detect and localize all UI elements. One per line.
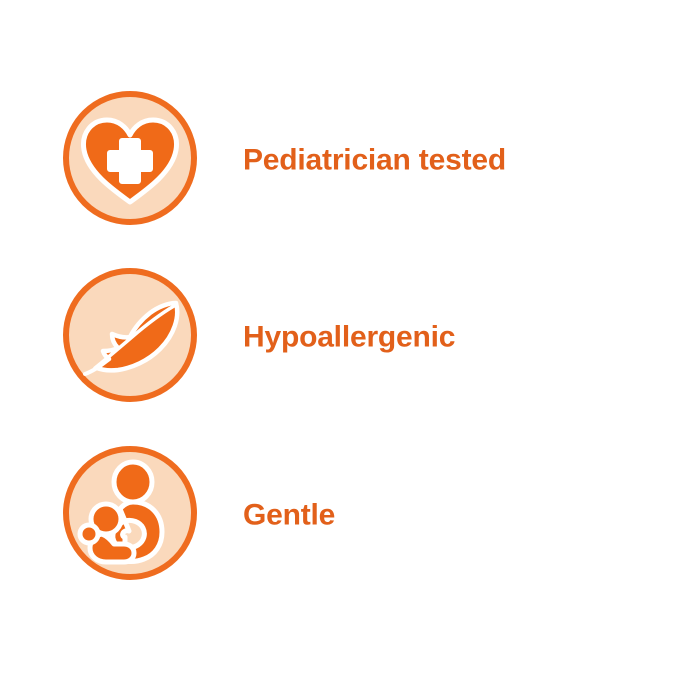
feature-row-pediatrician-tested: Pediatrician tested [0,90,679,230]
feature-label-pediatrician-tested: Pediatrician tested [243,144,506,177]
feature-row-hypoallergenic: Hypoallergenic [0,267,679,407]
feature-badges-panel: Pediatrician tested Hypoallergenic [0,0,679,679]
feature-label-hypoallergenic: Hypoallergenic [243,321,455,354]
mother-holding-baby-icon [62,445,198,581]
feature-label-gentle: Gentle [243,499,335,532]
feather-icon [62,267,198,403]
heart-with-medical-cross-icon [62,90,198,226]
feature-row-gentle: Gentle [0,445,679,585]
